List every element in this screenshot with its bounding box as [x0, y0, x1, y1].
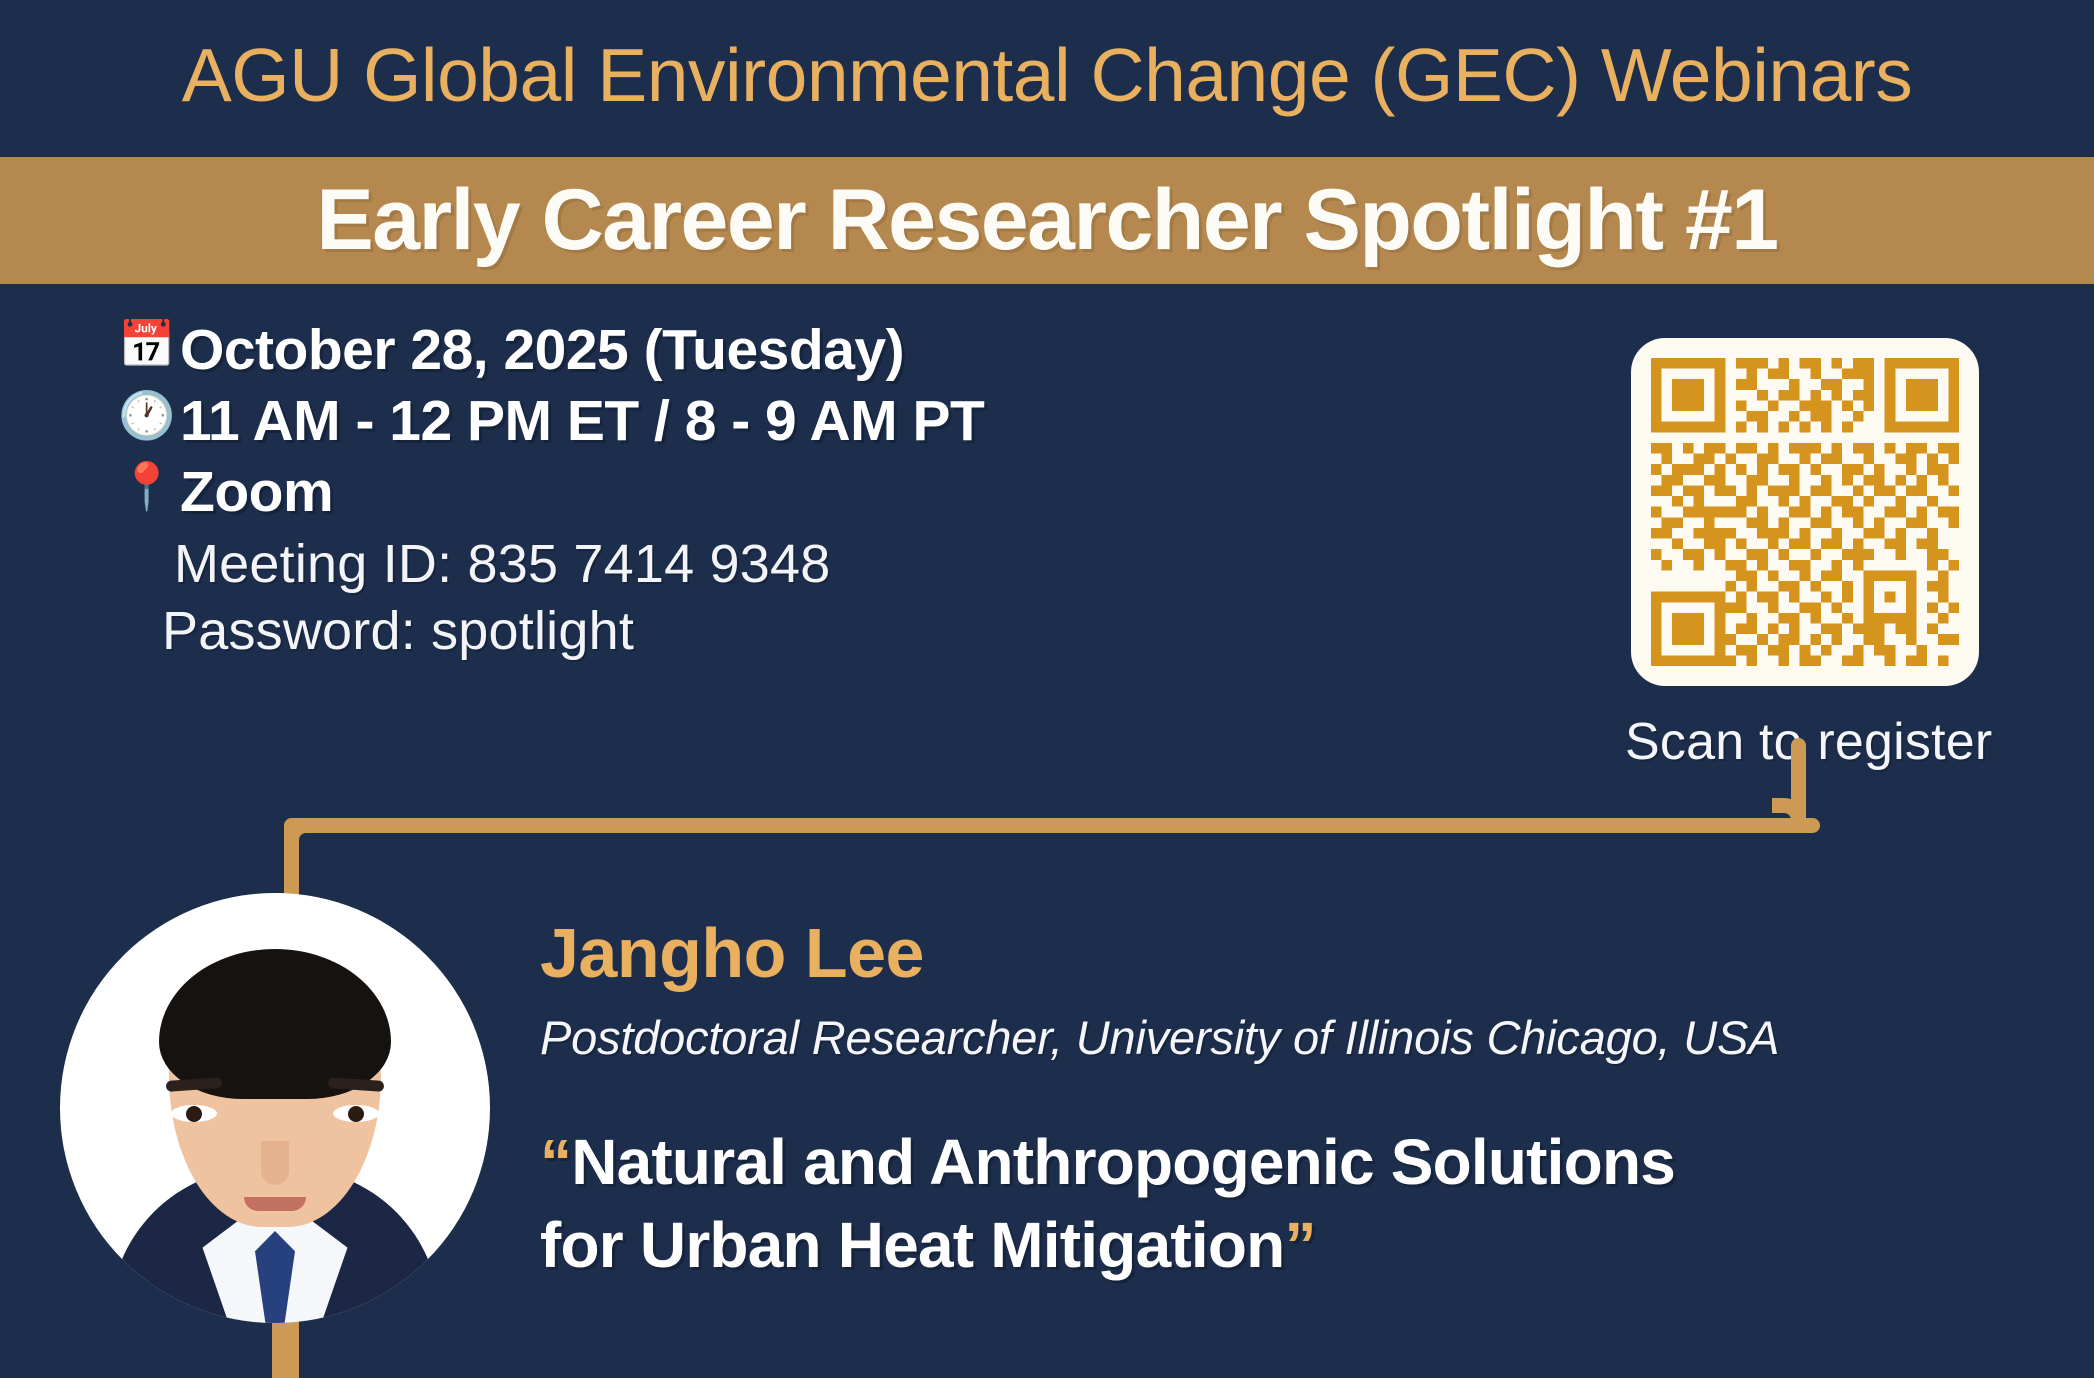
webinar-poster: AGU Global Environmental Change (GEC) We…	[0, 0, 2094, 1378]
speaker-name: Jangho Lee	[540, 918, 2060, 988]
meeting-id: Meeting ID: 835 7414 9348	[174, 531, 1198, 598]
open-quote: “	[540, 1126, 571, 1198]
event-details: 📅 October 28, 2025 (Tuesday) 🕐 11 AM - 1…	[118, 318, 1198, 665]
avatar	[60, 893, 490, 1323]
talk-title: “Natural and Anthropogenic Solutions for…	[540, 1121, 2060, 1287]
avatar-mouth	[244, 1197, 306, 1211]
meeting-password: Password: spotlight	[162, 598, 1198, 665]
qr-register-block[interactable]: Scan to register	[1625, 338, 1985, 772]
connector-corner-right	[1772, 798, 1806, 832]
avatar-eye-right	[333, 1105, 379, 1122]
event-location: Zoom	[180, 460, 333, 525]
close-quote: ”	[1284, 1209, 1315, 1281]
qr-code-icon[interactable]	[1631, 338, 1979, 686]
talk-title-line-1: Natural and Anthropogenic Solutions	[571, 1126, 1675, 1198]
connector-corner-left	[284, 818, 318, 852]
qr-caption: Scan to register	[1625, 712, 1985, 772]
clock-icon: 🕐	[118, 389, 180, 442]
avatar-eye-left	[171, 1105, 217, 1122]
event-location-row: 📍 Zoom	[118, 460, 1198, 525]
event-date-row: 📅 October 28, 2025 (Tuesday)	[118, 318, 1198, 383]
connector-horizontal-segment	[284, 818, 1820, 833]
banner-band: Early Career Researcher Spotlight #1	[0, 157, 2094, 284]
speaker-info: Jangho Lee Postdoctoral Researcher, Univ…	[540, 918, 2060, 1287]
map-pin-icon: 📍	[118, 460, 180, 513]
event-time: 11 AM - 12 PM ET / 8 - 9 AM PT	[180, 389, 984, 454]
avatar-hair	[159, 949, 391, 1099]
banner-title: Early Career Researcher Spotlight #1	[316, 171, 1777, 270]
speaker-photo	[60, 893, 490, 1378]
talk-title-line-2: for Urban Heat Mitigation	[540, 1209, 1284, 1281]
event-time-row: 🕐 11 AM - 12 PM ET / 8 - 9 AM PT	[118, 389, 1198, 454]
series-title: AGU Global Environmental Change (GEC) We…	[0, 32, 2094, 118]
event-date: October 28, 2025 (Tuesday)	[180, 318, 904, 383]
speaker-affiliation: Postdoctoral Researcher, University of I…	[540, 1010, 2060, 1065]
calendar-icon: 📅	[118, 318, 180, 371]
avatar-nose	[261, 1141, 289, 1185]
